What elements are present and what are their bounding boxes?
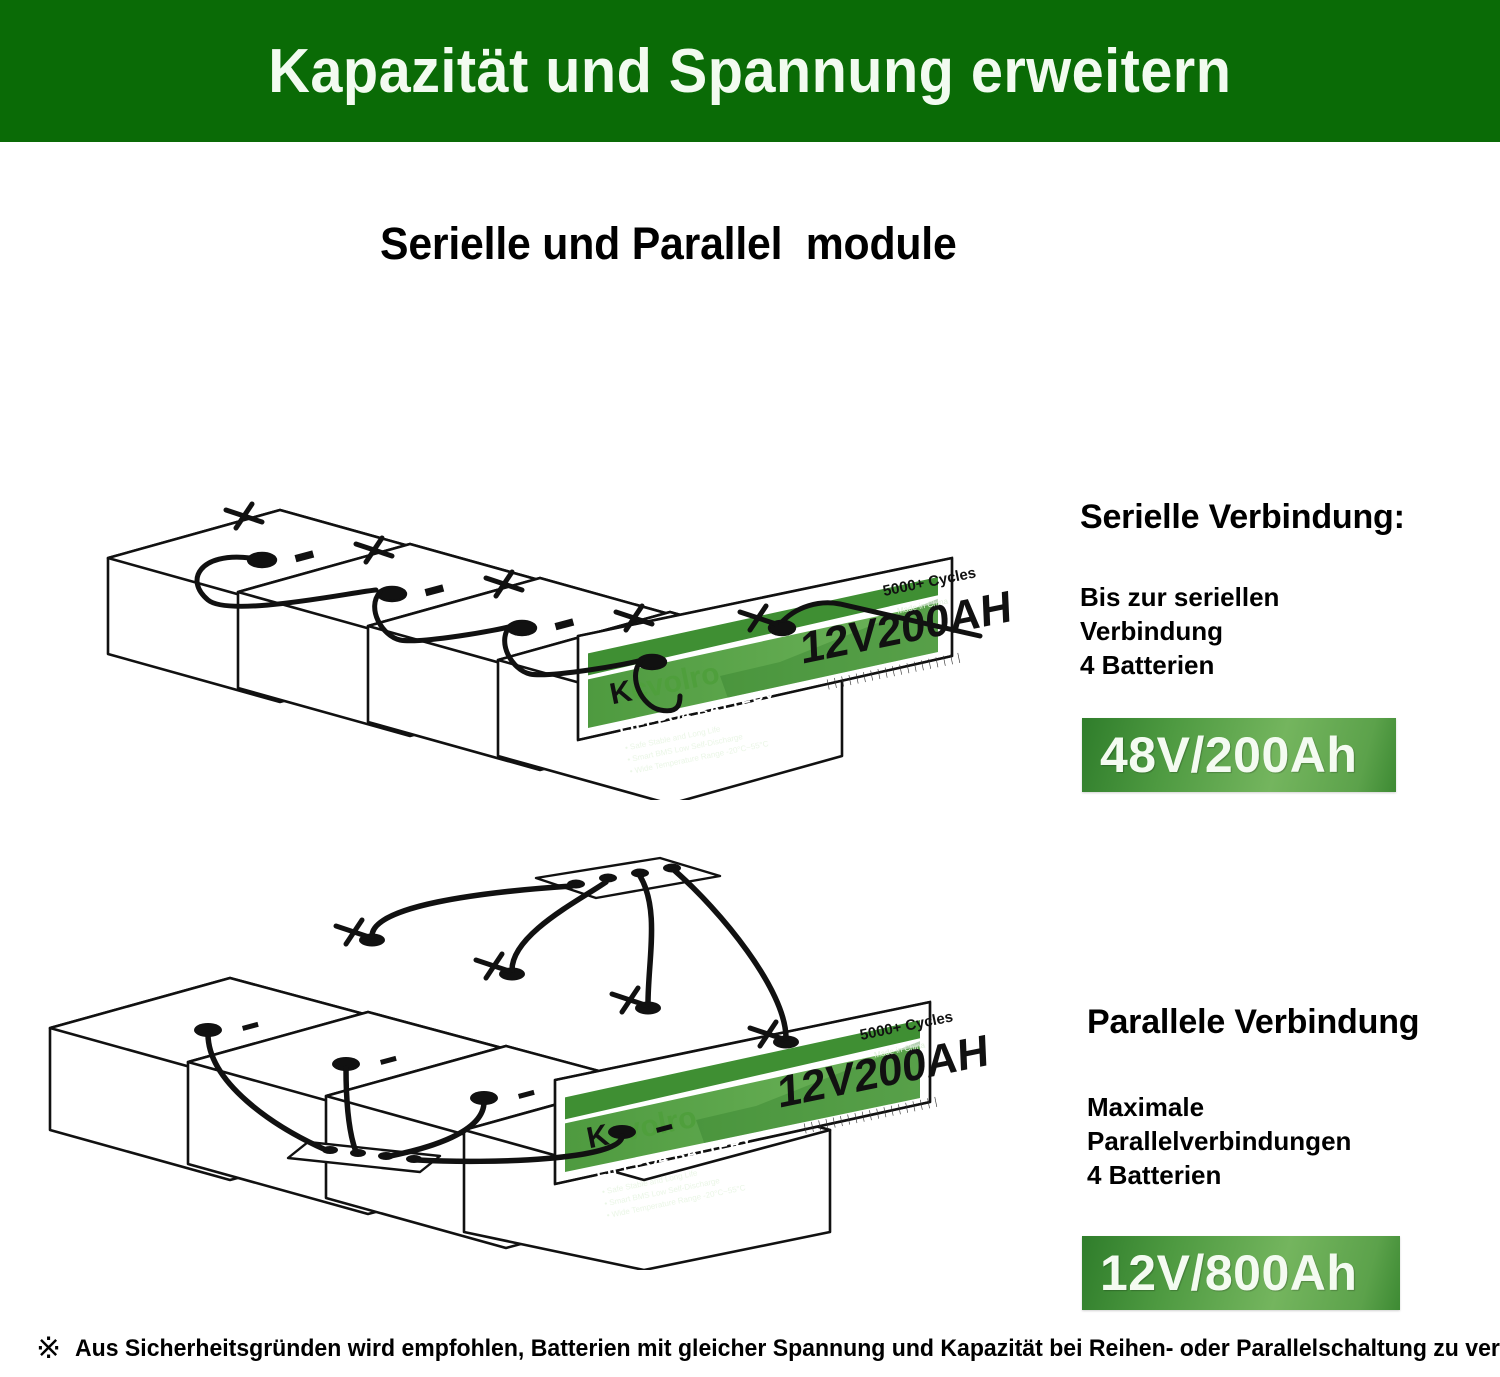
series-value-text: 48V/200Ah xyxy=(1100,726,1357,784)
section-subtitle: Serielle und Parallel module xyxy=(380,218,957,270)
reference-mark-icon: ※ xyxy=(36,1334,61,1364)
page-title: Kapazität und Spannung erweitern xyxy=(268,36,1231,107)
header-banner: Kapazität und Spannung erweitern xyxy=(0,0,1500,142)
series-heading: Serielle Verbindung: xyxy=(1080,498,1405,537)
parallel-connection-diagram: K cvolro LIFEPO4 BATTERY • Safe Stable a… xyxy=(20,850,1070,1270)
series-description: Bis zur seriellen Verbindung 4 Batterien xyxy=(1080,580,1279,682)
series-connection-diagram: K cvolro LIFEPO4 BATTERY • Safe Stable a… xyxy=(80,440,1080,800)
parallel-value-badge: 12V/800Ah xyxy=(1082,1236,1400,1310)
parallel-value-text: 12V/800Ah xyxy=(1100,1244,1357,1302)
safety-note: ※ Aus Sicherheitsgründen wird empfohlen,… xyxy=(36,1334,1500,1364)
parallel-description: Maximale Parallelverbindungen 4 Batterie… xyxy=(1087,1090,1351,1192)
parallel-heading: Parallele Verbindung xyxy=(1087,1003,1419,1042)
series-value-badge: 48V/200Ah xyxy=(1082,718,1396,792)
safety-note-text: Aus Sicherheitsgründen wird empfohlen, B… xyxy=(75,1335,1500,1363)
